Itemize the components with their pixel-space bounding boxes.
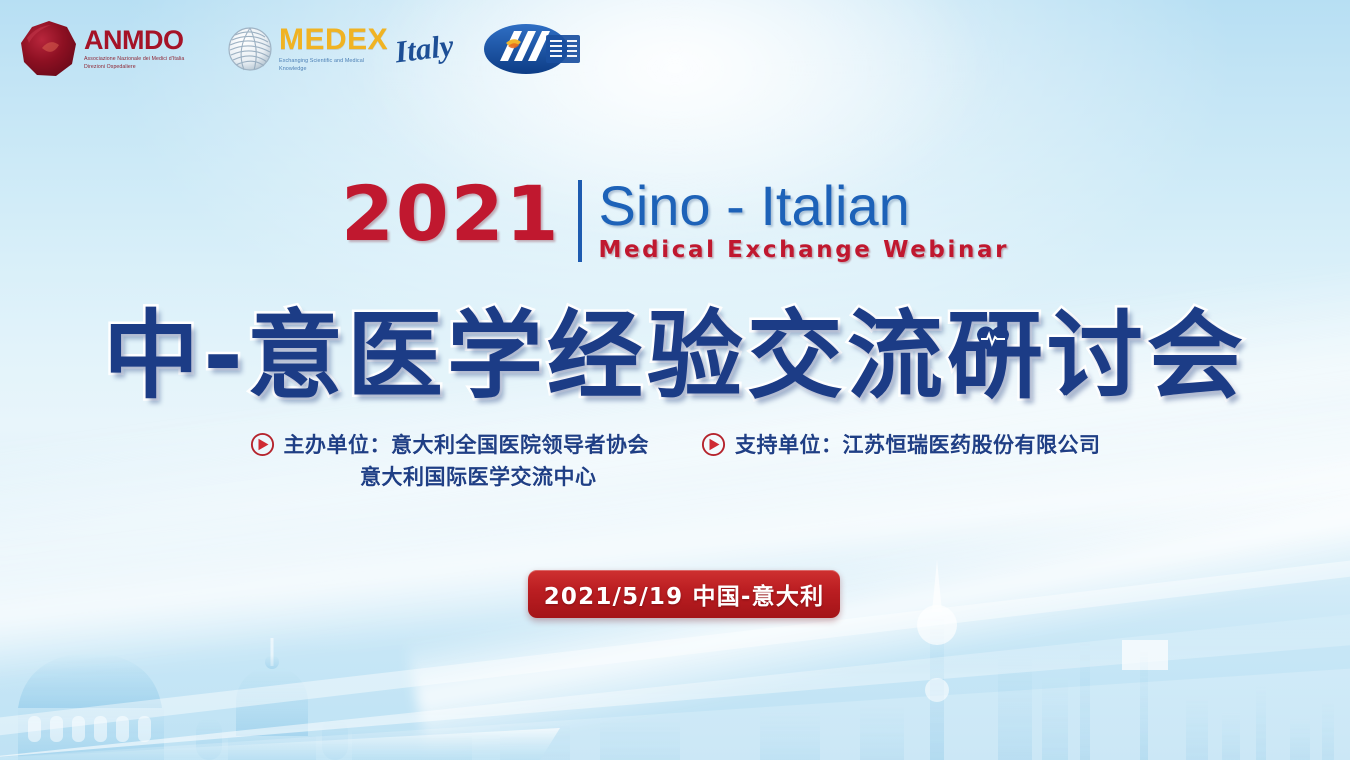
- anmdo-wordmark: ANMDO: [84, 27, 202, 54]
- globe-icon: [226, 25, 274, 73]
- medex-tagline: Exchanging Scientific and Medical Knowle…: [279, 57, 384, 73]
- anmdo-polygon-icon: [18, 18, 80, 80]
- english-title: Sino - Italian: [598, 178, 1009, 234]
- date-badge: 2021/5/19 中国-意大利: [528, 570, 840, 618]
- logo-anmdo: ANMDO Associazione Nazionale dei Medici …: [18, 18, 202, 80]
- organiser-supporter: 支持单位：江苏恒瑞医药股份有限公司: [701, 430, 1101, 462]
- headline-divider: [578, 180, 582, 262]
- anmdo-tagline: Associazione Nazionale dei Medici d'Ital…: [84, 56, 202, 71]
- organiser-block: 主办单位：意大利全国医院领导者协会 意大利国际医学交流中心 支持单位：江苏恒瑞医…: [0, 430, 1350, 493]
- chinese-title: 中-意医学经验交流研讨会: [103, 278, 1247, 417]
- logo-bar: ANMDO Associazione Nazionale dei Medici …: [18, 18, 584, 80]
- medex-italy-script: Italy: [393, 28, 456, 71]
- webinar-poster: ANMDO Associazione Nazionale dei Medici …: [0, 0, 1350, 760]
- date-badge-text: 2021/5/19 中国-意大利: [544, 577, 825, 611]
- english-headline: 2021 Sino - Italian Medical Exchange Web…: [0, 178, 1350, 263]
- arrow-circle-icon: [701, 432, 726, 457]
- medex-wordmark: MEDEX: [279, 25, 388, 55]
- chinese-headline: 中-意医学经验交流研讨会: [0, 278, 1350, 417]
- organiser-host-line2: 意大利国际医学交流中心: [284, 462, 650, 494]
- year-text: 2021: [341, 178, 561, 250]
- arrow-circle-icon: [250, 432, 275, 457]
- organiser-supporter-line1: 支持单位：江苏恒瑞医药股份有限公司: [735, 433, 1101, 457]
- english-subtitle: Medical Exchange Webinar: [598, 237, 1009, 263]
- organiser-host: 主办单位：意大利全国医院领导者协会 意大利国际医学交流中心: [250, 430, 650, 493]
- heart-pulse-icon: [976, 324, 1010, 356]
- logo-hengrui: [484, 21, 584, 77]
- organiser-host-line1: 主办单位：意大利全国医院领导者协会: [284, 433, 650, 457]
- hengrui-logo-icon: [484, 21, 584, 77]
- logo-medex: MEDEX Exchanging Scientific and Medical …: [226, 25, 454, 73]
